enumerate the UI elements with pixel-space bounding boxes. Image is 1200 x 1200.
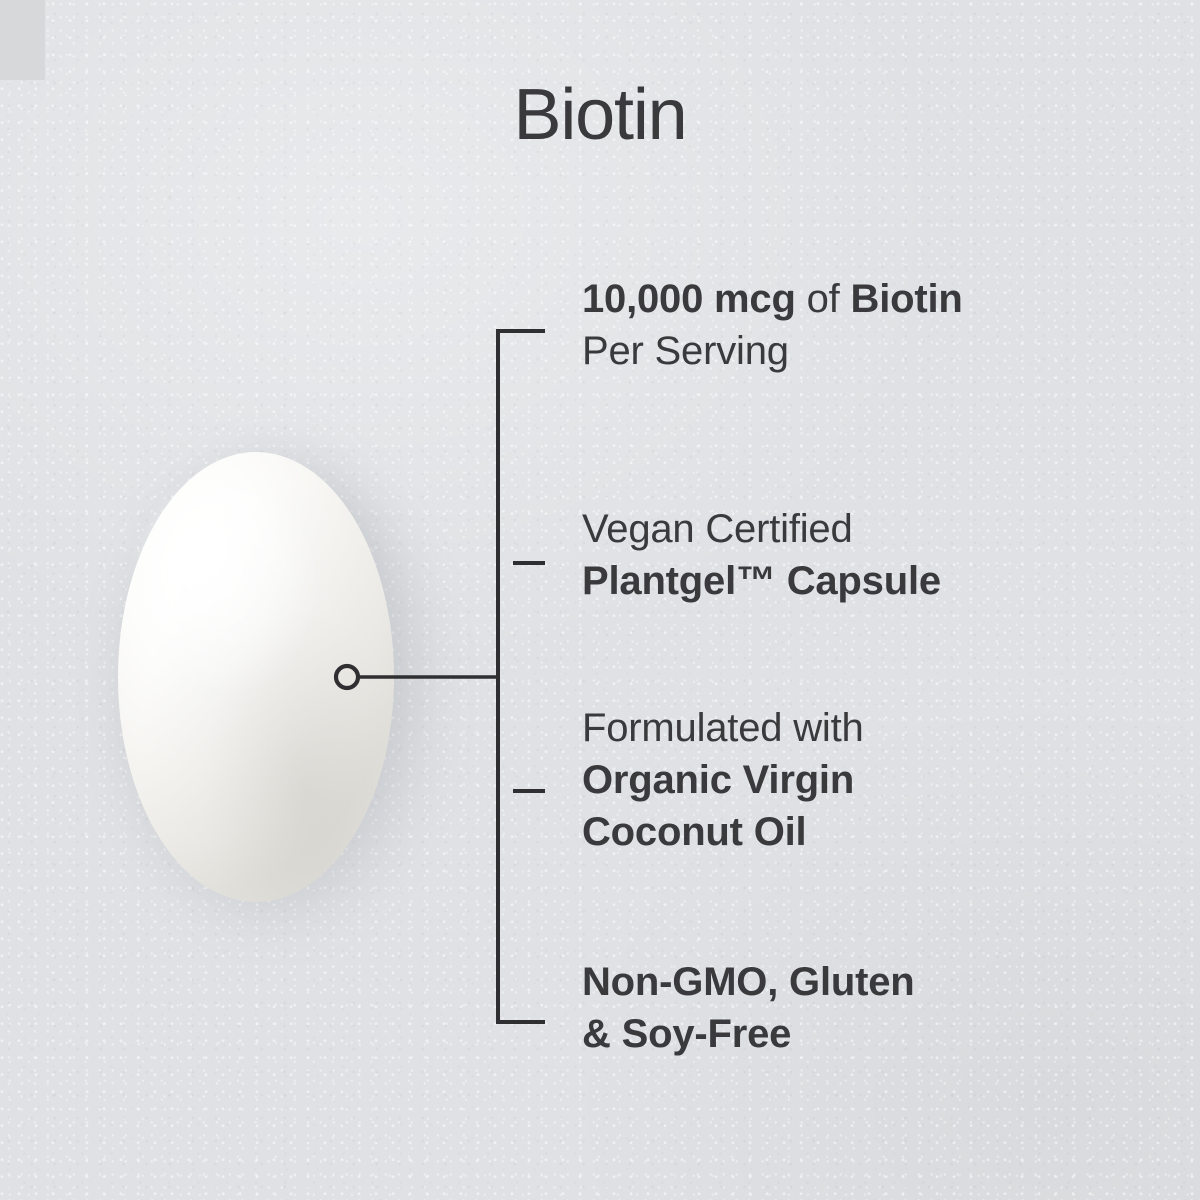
feature-coconut-oil: Formulated withOrganic VirginCoconut Oil [582,702,1142,858]
feature-text-regular: Formulated with [582,706,864,750]
feature-line: Per Serving [582,325,1142,377]
feature-text-regular: Vegan Certified [582,507,853,551]
feature-dosage: 10,000 mcg of BiotinPer Serving [582,273,1142,377]
feature-text-regular: of [796,277,851,321]
feature-text-bold: 10,000 mcg [582,277,796,321]
feature-text-regular: Per Serving [582,329,789,373]
feature-line: 10,000 mcg of Biotin [582,273,1142,325]
page-title: Biotin [0,74,1200,156]
feature-text-bold: Organic Virgin [582,758,854,802]
feature-line: Plantgel™ Capsule [582,555,1142,607]
corner-patch [0,0,45,80]
feature-text-bold: Biotin [851,277,963,321]
feature-line: Organic Virgin [582,754,1142,806]
feature-text-bold: Non-GMO, Gluten [582,960,915,1004]
feature-free-from: Non-GMO, Gluten& Soy-Free [582,956,1142,1060]
capsule-image [118,452,394,902]
feature-line: Formulated with [582,702,1142,754]
feature-text-bold: Plantgel™ Capsule [582,559,941,603]
infographic-canvas: Biotin 10,000 mcg of BiotinPer Serving V… [0,0,1200,1200]
feature-line: & Soy-Free [582,1008,1142,1060]
feature-text-bold: Coconut Oil [582,810,806,854]
feature-text-bold: & Soy-Free [582,1012,791,1056]
feature-line: Coconut Oil [582,806,1142,858]
feature-line: Vegan Certified [582,503,1142,555]
feature-line: Non-GMO, Gluten [582,956,1142,1008]
feature-capsule-type: Vegan CertifiedPlantgel™ Capsule [582,503,1142,607]
capsule-body [118,452,394,902]
capsule-highlight [143,484,314,691]
